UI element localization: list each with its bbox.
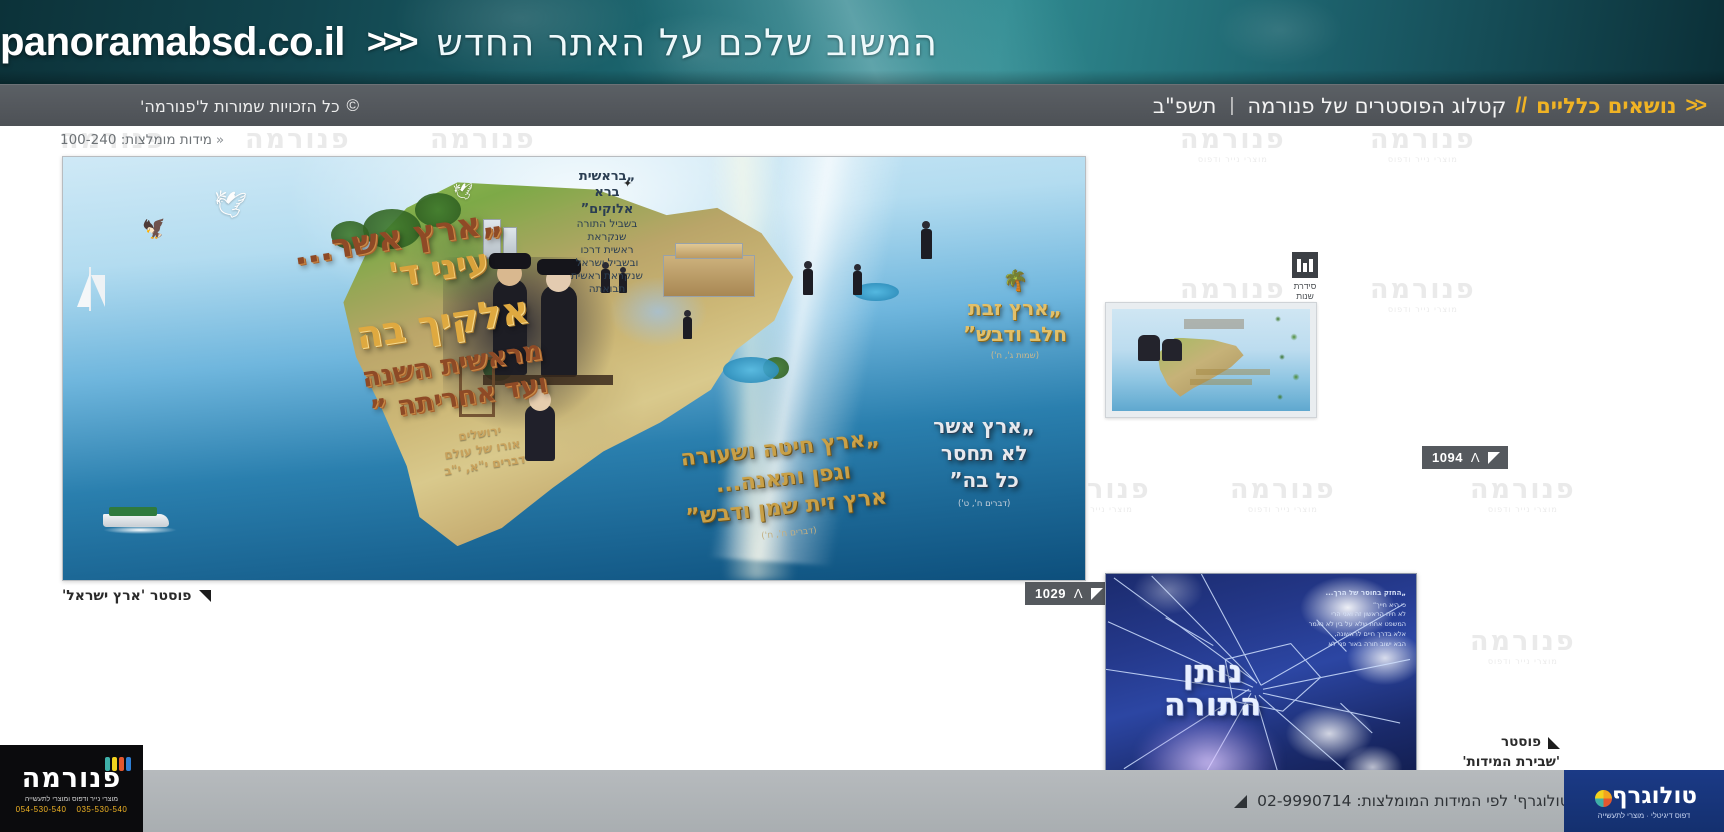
thumb-b-small-line-2: לא חיה הראשון זה ואני הרי bbox=[1331, 610, 1406, 618]
chevron-left-triple-icon: <<< bbox=[361, 23, 421, 62]
colorwheel-icon bbox=[1595, 790, 1612, 807]
copyright-text: כל הזכויות שמורות ל'פנורמה' bbox=[140, 97, 340, 116]
catalog-number-text: 1029 bbox=[1035, 586, 1066, 601]
honey-source: (שמות ג', ח') bbox=[963, 351, 1067, 362]
verse-br-line-1: „ארץ אשר bbox=[933, 414, 1035, 438]
chevron-left-double-icon[interactable]: << bbox=[1685, 94, 1704, 118]
watermark: פנורמהמוצרי נייר ודפוס bbox=[1470, 626, 1576, 666]
creation-small-3: ראשית דרכו bbox=[551, 244, 663, 257]
poster-creation-text: „בראשית ברא אלוקים” בשביל התורה שנקראת ר… bbox=[551, 169, 663, 297]
thumbnail-middot-poster[interactable]: „החזק בחוסר של הרך... כי היא חייך” לא חי… bbox=[1105, 573, 1417, 785]
nav-category-label[interactable]: נושאים כלליים bbox=[1536, 94, 1676, 118]
copyright-icon: © bbox=[347, 96, 360, 116]
poster-figure bbox=[683, 317, 692, 339]
poster-scholar-figure bbox=[541, 285, 577, 377]
poster-figure-raised-arms bbox=[921, 229, 932, 259]
nav-year-label: תשפ"ב bbox=[1153, 94, 1217, 118]
sheets-bars bbox=[1297, 259, 1313, 272]
poster-verse-honey: 🌴 „ארץ זבת חלב ודבש” (שמות ג', ח') bbox=[963, 267, 1067, 362]
thumbnail-a-figure bbox=[1162, 339, 1182, 361]
poster-verse-lacking-nothing: „ארץ אשר לא תחסר כל בה” (דברים ח', ט') bbox=[933, 413, 1035, 510]
banner-website-url[interactable]: panoramabsd.co.il bbox=[0, 20, 345, 65]
thumb-b-small-line-4: אלא בדרך חיים לראשונה, bbox=[1334, 630, 1406, 638]
caption-triangle-icon bbox=[199, 590, 211, 602]
watermark: פנורמהמוצרי נייר ודפוס bbox=[1180, 126, 1286, 164]
poster-boat bbox=[103, 502, 173, 532]
tulugraf-logo-name: טולוגרף bbox=[1612, 783, 1697, 809]
catalog-triangle-icon bbox=[1091, 588, 1103, 600]
creation-big-1: „בראשית bbox=[551, 169, 663, 185]
recommended-size-note: «מידות מומלצות: 100-240 bbox=[60, 132, 224, 148]
palm-grapes-icon: 🌴 bbox=[963, 267, 1067, 293]
navigation-bar: 55 | 54 © כל הזכויות שמורות ל'פנורמה' <<… bbox=[0, 84, 1724, 126]
catalog-mark-icon: Λ bbox=[1471, 450, 1480, 465]
panorama-phone-b: 035-530-540 bbox=[77, 805, 128, 814]
watermark: פנורמהמוצרי נייר ודפוס bbox=[1370, 126, 1476, 164]
poster-temple-roof bbox=[675, 243, 743, 259]
creation-small-5: שנקראת ראשית bbox=[551, 270, 663, 283]
catalog-triangle-icon bbox=[1488, 452, 1500, 464]
thumb-b-title-line-1: נותן bbox=[1183, 654, 1244, 690]
creation-big-3: אלוקים” bbox=[551, 202, 663, 218]
copyright-block: © כל הזכויות שמורות ל'פנורמה' bbox=[140, 85, 359, 127]
thumb-b-small-title: „החזק בחוסר של הרך... bbox=[1280, 588, 1406, 599]
poster-figure-head bbox=[854, 264, 861, 271]
honey-line-2: חלב ודבש” bbox=[963, 322, 1067, 346]
thumb-b-small-line-1: כי היא חייך” bbox=[1373, 601, 1406, 609]
honey-line-1: „ארץ זבת bbox=[968, 296, 1062, 320]
watermark: פנורמהמוצרי נייר ודפוס bbox=[1470, 474, 1576, 514]
catalog-page: המשוב שלכם על האתר החדש <<< panoramabsd.… bbox=[0, 0, 1724, 832]
poster-scholar-hat bbox=[489, 253, 531, 269]
nav-separator: // bbox=[1515, 94, 1527, 118]
creation-small-6: תבואתה bbox=[551, 283, 663, 296]
top-banner: המשוב שלכם על האתר החדש <<< panoramabsd.… bbox=[0, 0, 1724, 84]
series-label-line-1: סידרת bbox=[1294, 281, 1317, 291]
thumbnail-a-figure bbox=[1138, 335, 1160, 361]
sheets-pages-icon bbox=[1292, 252, 1318, 278]
thumbnail-b-catalog-number[interactable]: 1094 Λ bbox=[1422, 446, 1508, 469]
banner-content: המשוב שלכם על האתר החדש <<< panoramabsd.… bbox=[0, 0, 1724, 84]
thumbnail-a-text-strip bbox=[1184, 319, 1244, 329]
series-label-line-2: שנות bbox=[1296, 291, 1314, 301]
recommended-size-text: מידות מומלצות: 100-240 bbox=[60, 132, 212, 148]
verse-br-line-2: לא תחסר bbox=[941, 441, 1028, 465]
thumbnail-classroom-poster[interactable] bbox=[1105, 302, 1317, 418]
page-footer: הזמנה ישירה ב'טולוגרף' לפי המידות המומלצ… bbox=[0, 770, 1724, 832]
thumb-b-small-line-5: הבא ישוב תורה באור פני לא bbox=[1328, 640, 1406, 648]
thumb-b-title-line-2: התורה bbox=[1164, 687, 1262, 723]
tulugraf-logo-row: טולוגרף bbox=[1591, 783, 1697, 809]
logo-color-dots-icon bbox=[105, 757, 131, 771]
banner-tagline: המשוב שלכם על האתר החדש bbox=[437, 21, 938, 64]
main-poster-image[interactable]: 🦅 🕊 🕊 ✦ „ארץ אשר... עיני ד' אלקיך בה מרא… bbox=[62, 156, 1086, 581]
thumbnail-b-title: נותן התורה bbox=[1118, 656, 1308, 721]
nav-breadcrumb: << נושאים כלליים // קטלוג הפוסטרים של פנ… bbox=[1153, 85, 1704, 127]
panorama-logo[interactable]: פנורמה מוצרי נייר ודפוס ומוצרי לתעשייה 0… bbox=[0, 745, 143, 832]
poster-sailboat bbox=[73, 267, 113, 327]
poster-figure bbox=[853, 271, 862, 295]
chevron-note-icon: « bbox=[212, 132, 224, 148]
series-icon-label: סידרת שנות bbox=[1288, 281, 1322, 301]
creation-big-2: ברא bbox=[551, 185, 663, 201]
thumbnail-a-foliage bbox=[1268, 307, 1308, 418]
main-poster-caption: פוסטר 'ארץ ישראל' bbox=[62, 588, 211, 604]
poster-figure-head bbox=[804, 261, 812, 269]
poster-water-pool bbox=[723, 357, 779, 383]
verse-br-line-3: כל בה” bbox=[949, 468, 1018, 492]
poster-figure bbox=[803, 269, 813, 295]
main-poster-caption-text: פוסטר 'ארץ ישראל' bbox=[62, 588, 192, 604]
creation-small-2: שנקראת bbox=[551, 231, 663, 244]
bird-icon: 🕊 bbox=[211, 189, 247, 219]
watermark: פנורמהמוצרי נייר ודפוס bbox=[1230, 474, 1336, 514]
nav-catalog-title: קטלוג הפוסטרים של פנורמה bbox=[1247, 94, 1506, 118]
thumbnail-b-caption: פוסטר 'שבירת המידות' bbox=[1440, 733, 1560, 772]
thumbnail-b-small-text: „החזק בחוסר של הרך... כי היא חייך” לא חי… bbox=[1280, 588, 1406, 649]
watermark: פנורמהמוצרי נייר ודפוס bbox=[1370, 274, 1476, 314]
series-icon-chip[interactable]: סידרת שנות bbox=[1288, 252, 1322, 301]
caption-triangle-icon bbox=[1548, 737, 1560, 749]
verse-br-source: (דברים ח', ט') bbox=[933, 499, 1035, 510]
main-poster-catalog-number[interactable]: 1029 Λ bbox=[1025, 582, 1111, 605]
poster-figure-head bbox=[684, 310, 691, 317]
bird-icon: 🕊 bbox=[453, 185, 473, 201]
catalog-mark-icon: Λ bbox=[1074, 586, 1083, 601]
creation-small-1: בשביל התורה bbox=[551, 218, 663, 231]
thumb-b-small-line-3: המשפט אחת שלא על בין לא נאמר bbox=[1309, 620, 1406, 628]
caption-right-row: פוסטר bbox=[1440, 733, 1560, 753]
poster-child-figure bbox=[525, 405, 555, 461]
caption-right-line-1: פוסטר bbox=[1501, 733, 1541, 753]
footer-triangle-icon bbox=[1234, 795, 1247, 808]
nav-pipe: | bbox=[1225, 95, 1238, 117]
poster-verse-seven-species: „ארץ חיטה ושעורה וגפן ותאנה... ארץ זית ש… bbox=[678, 424, 890, 551]
poster-figure-head bbox=[922, 221, 930, 229]
thumbnail-a-text-strip bbox=[1190, 379, 1252, 385]
page-body: פנורמהמוצרי נייר ודפוס פנורמהמוצרי נייר … bbox=[0, 126, 1724, 832]
catalog-number-text: 1094 bbox=[1432, 450, 1463, 465]
panorama-phone-a: 054-530-540 bbox=[16, 805, 67, 814]
tulugraf-logo[interactable]: טולוגרף דפוס דיגיטלי · מוצרי לתעשייה bbox=[1564, 770, 1724, 832]
creation-small-4: ובשביל ישראל bbox=[551, 257, 663, 270]
tulugraf-logo-subtitle: דפוס דיגיטלי · מוצרי לתעשייה bbox=[1598, 811, 1690, 820]
thumbnail-a-text-strip bbox=[1196, 369, 1270, 375]
panorama-logo-subtitle: מוצרי נייר ודפוס ומוצרי לתעשייה bbox=[25, 796, 118, 803]
poster-temple-model bbox=[663, 255, 755, 297]
